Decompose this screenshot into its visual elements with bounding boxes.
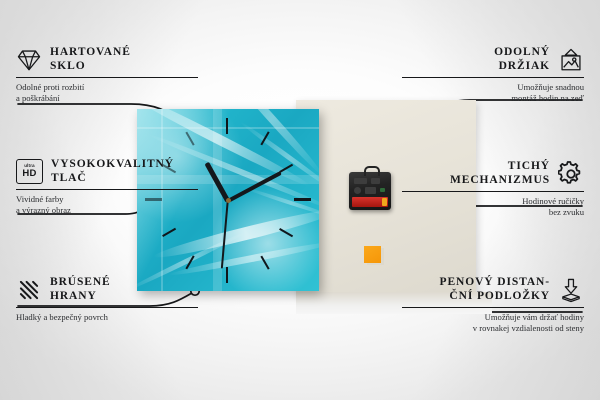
ultra-hd-icon-main-text: HD: [22, 169, 36, 179]
clock-tick: [294, 198, 311, 201]
divider: [16, 77, 198, 78]
feature-foam-spacers: PENOVÝ DISTAN- ČNÍ PODLOŽKY Umožňuje vám…: [402, 276, 584, 334]
feature-title-line2: DRŽIAK: [494, 60, 550, 74]
movement-shaft: [364, 166, 380, 176]
foam-spacer-part: [364, 246, 381, 263]
feature-high-quality-print: ultra HD VYSOKOKVALITNÝ TLAČ Vividné far…: [16, 158, 198, 216]
feature-desc-line2: montáž hodin na zeď: [402, 93, 584, 104]
feature-silent-mechanism: TICHÝ MECHANIZMUS Hodinové ručičky bez z…: [402, 160, 584, 218]
feature-durable-hanger: ODOLNÝ DRŽIAK Umožňuje snadnou montáž ho…: [402, 46, 584, 104]
feature-desc-line1: Hladký a bezpečný povrch: [16, 312, 198, 323]
feature-title-line2: SKLO: [50, 60, 131, 74]
feature-desc-line2: a výrazný obraz: [16, 205, 198, 216]
feature-title-line1: BRÚSENÉ: [50, 276, 111, 290]
feature-title-line1: VYSOKOKVALITNÝ: [51, 158, 174, 172]
wall-hanger-icon: [558, 47, 584, 73]
feature-title-line1: HARTOVANÉ: [50, 46, 131, 60]
feature-title-line2: HRANY: [50, 290, 111, 304]
feature-desc-line2: a poškrábání: [16, 93, 198, 104]
feature-heading: TICHÝ MECHANIZMUS: [402, 160, 584, 187]
diamond-icon: [16, 47, 42, 73]
divider: [16, 189, 198, 190]
divider: [402, 191, 584, 192]
battery-terminal: [382, 198, 387, 206]
feature-desc-line1: Umožňuje vám držať hodiny: [402, 312, 584, 323]
feature-desc-line2: bez zvuku: [402, 207, 584, 218]
feature-desc-line1: Vividné farby: [16, 194, 198, 205]
clock-movement-part: [349, 172, 391, 210]
clock-tick: [185, 131, 195, 145]
feature-title-line2: MECHANIZMUS: [450, 174, 550, 188]
foam-pad-icon: [558, 277, 584, 303]
movement-battery: [352, 197, 388, 207]
feature-heading: BRÚSENÉ HRANY: [16, 276, 198, 303]
feature-title-line1: TICHÝ: [450, 160, 550, 174]
clock-tick: [226, 118, 228, 134]
feature-heading: ODOLNÝ DRŽIAK: [402, 46, 584, 73]
clock-tick: [162, 228, 176, 238]
feature-tempered-glass: HARTOVANÉ SKLO Odolné proti rozbití a po…: [16, 46, 198, 104]
feature-desc-line1: Umožňuje snadnou: [402, 82, 584, 93]
infographic-canvas: HARTOVANÉ SKLO Odolné proti rozbití a po…: [0, 0, 600, 400]
feature-title-line1: PENOVÝ DISTAN-: [440, 276, 550, 290]
divider: [16, 307, 198, 308]
feature-desc-line2: v rovnakej vzdialenosti od steny: [402, 323, 584, 334]
feature-desc-line1: Odolné proti rozbití: [16, 82, 198, 93]
feature-heading: ultra HD VYSOKOKVALITNÝ TLAČ: [16, 158, 198, 185]
clock-hand-hub: [226, 198, 231, 203]
feature-title-line2: TLAČ: [51, 172, 174, 186]
feature-title-line2: ČNÍ PODLOŽKY: [440, 290, 550, 304]
divider: [402, 77, 584, 78]
gear-icon: [558, 161, 584, 187]
clock-tick: [226, 267, 228, 283]
feature-title-line1: ODOLNÝ: [494, 46, 550, 60]
feature-heading: PENOVÝ DISTAN- ČNÍ PODLOŽKY: [402, 276, 584, 303]
ultra-hd-icon: ultra HD: [16, 159, 43, 184]
divider: [402, 307, 584, 308]
feature-desc-line1: Hodinové ručičky: [402, 196, 584, 207]
feature-ground-edges: BRÚSENÉ HRANY Hladký a bezpečný povrch: [16, 276, 198, 323]
feature-heading: HARTOVANÉ SKLO: [16, 46, 198, 73]
ground-edges-icon: [16, 277, 42, 303]
